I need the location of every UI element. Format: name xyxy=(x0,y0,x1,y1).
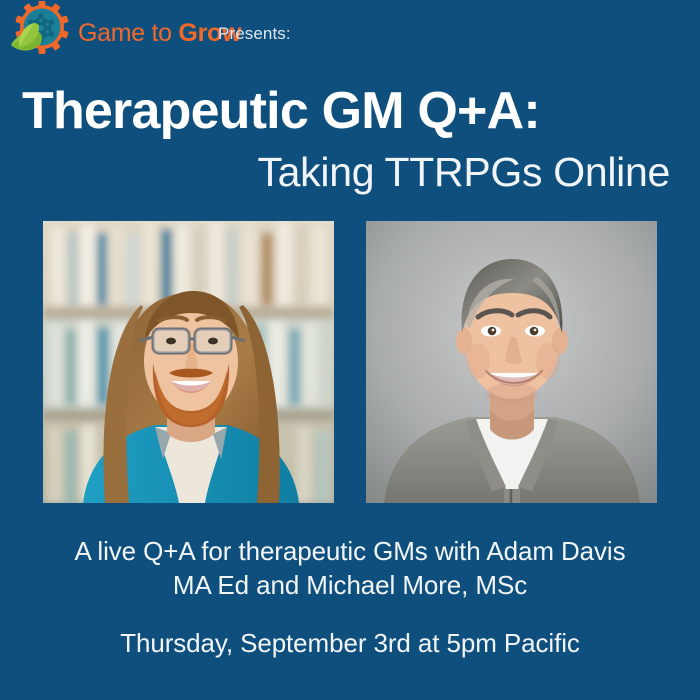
event-blurb-line-2: MA Ed and Michael More, MSc xyxy=(18,568,682,602)
event-blurb: A live Q+A for therapeutic GMs with Adam… xyxy=(0,534,700,602)
page-subtitle: Taking TTRPGs Online xyxy=(0,148,670,196)
gear-and-leaves-logo-icon xyxy=(6,1,76,63)
speaker-photo-adam-davis xyxy=(43,221,334,503)
event-poster: Game to Grow Presents: Therapeutic GM Q+… xyxy=(0,0,700,700)
speaker-photo-michael-more xyxy=(366,221,657,503)
poster-header: Game to Grow Presents: xyxy=(0,0,700,66)
poster-footer: A live Q+A for therapeutic GMs with Adam… xyxy=(0,534,700,660)
presents-label: Presents: xyxy=(218,24,291,44)
brand-word-game-to: Game to xyxy=(78,19,178,47)
event-blurb-line-1: A live Q+A for therapeutic GMs with Adam… xyxy=(18,534,682,568)
page-title: Therapeutic GM Q+A: xyxy=(22,82,682,140)
brand-wordmark: Game to Grow xyxy=(78,18,241,48)
event-datetime: Thursday, September 3rd at 5pm Pacific xyxy=(0,626,700,660)
